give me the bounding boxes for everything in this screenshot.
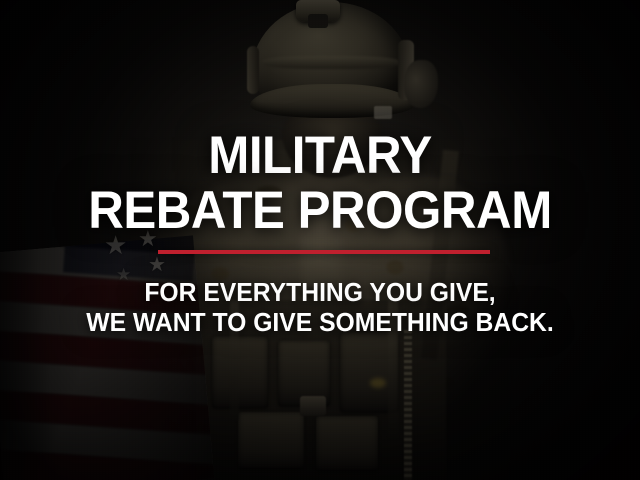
headline-line-1: MILITARY — [22, 129, 617, 182]
red-divider-rule — [158, 250, 490, 254]
subheadline-line-1: FOR EVERYTHING YOU GIVE, — [16, 279, 624, 306]
text-overlay: MILITARY REBATE PROGRAM FOR EVERYTHING Y… — [0, 0, 640, 480]
subheadline-line-2: WE WANT TO GIVE SOMETHING BACK. — [16, 309, 624, 336]
headline-line-2: REBATE PROGRAM — [22, 184, 617, 237]
military-rebate-banner: ★ ★ ★ ★ MILITARY REBATE PROGRAM FOR EVER… — [0, 0, 640, 480]
